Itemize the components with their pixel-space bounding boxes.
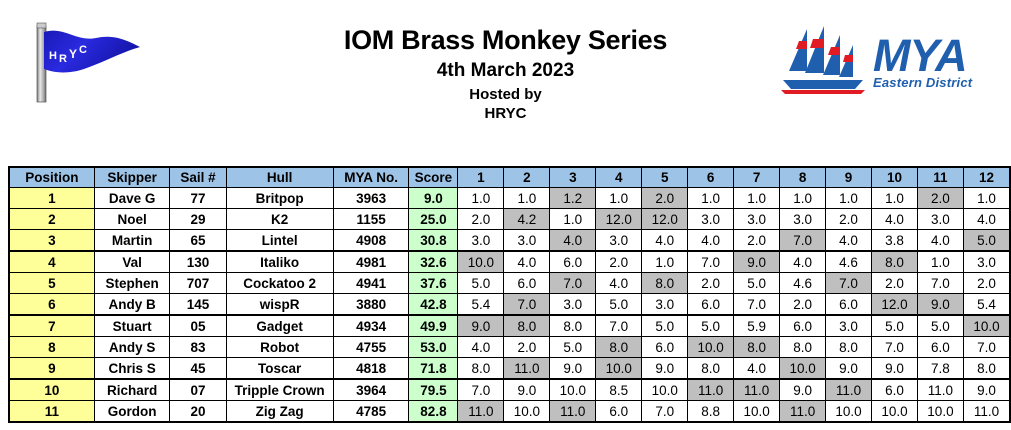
cell-race-7: 8.0 bbox=[734, 337, 780, 358]
cell-score: 79.5 bbox=[409, 379, 458, 401]
cell-race-11: 6.0 bbox=[917, 337, 963, 358]
column-header-race-6: 6 bbox=[688, 167, 734, 188]
cell-race-7: 5.0 bbox=[734, 273, 780, 294]
cell-race-9: 6.0 bbox=[826, 294, 872, 316]
column-header-hull: Hull bbox=[226, 167, 333, 188]
column-header-race-8: 8 bbox=[780, 167, 826, 188]
cell-position: 10 bbox=[9, 379, 94, 401]
cell-race-5: 12.0 bbox=[642, 209, 688, 230]
cell-race-6: 8.0 bbox=[688, 358, 734, 380]
cell-race-8: 9.0 bbox=[780, 379, 826, 401]
cell-sail-number: 45 bbox=[170, 358, 226, 380]
cell-race-3: 5.0 bbox=[550, 337, 596, 358]
cell-race-2: 9.0 bbox=[504, 379, 550, 401]
cell-hull: wispR bbox=[226, 294, 333, 316]
cell-mya-number: 4818 bbox=[333, 358, 409, 380]
cell-hull: Tripple Crown bbox=[226, 379, 333, 401]
cell-race-11: 5.0 bbox=[917, 315, 963, 337]
cell-race-9: 8.0 bbox=[826, 337, 872, 358]
cell-race-2: 11.0 bbox=[504, 358, 550, 380]
cell-position: 4 bbox=[9, 251, 94, 273]
cell-race-5: 6.0 bbox=[642, 337, 688, 358]
cell-race-12: 3.0 bbox=[963, 251, 1010, 273]
table-row: 8Andy S83Robot475553.04.02.05.08.06.010.… bbox=[9, 337, 1010, 358]
cell-hull: Toscar bbox=[226, 358, 333, 380]
cell-race-6: 8.8 bbox=[688, 401, 734, 423]
cell-position: 8 bbox=[9, 337, 94, 358]
cell-position: 5 bbox=[9, 273, 94, 294]
cell-race-12: 2.0 bbox=[963, 273, 1010, 294]
cell-mya-number: 4908 bbox=[333, 230, 409, 252]
mya-wordmark: MYA Eastern District bbox=[873, 34, 972, 89]
column-header-score: Score bbox=[409, 167, 458, 188]
cell-race-12: 7.0 bbox=[963, 337, 1010, 358]
cell-race-9: 2.0 bbox=[826, 209, 872, 230]
column-header-race-2: 2 bbox=[504, 167, 550, 188]
cell-race-5: 2.0 bbox=[642, 188, 688, 209]
cell-race-1: 3.0 bbox=[458, 230, 504, 252]
cell-race-9: 3.0 bbox=[826, 315, 872, 337]
cell-race-1: 5.4 bbox=[458, 294, 504, 316]
table-row: 4Val130Italiko498132.610.04.06.02.01.07.… bbox=[9, 251, 1010, 273]
cell-race-10: 10.0 bbox=[872, 401, 918, 423]
cell-race-5: 4.0 bbox=[642, 230, 688, 252]
cell-race-2: 4.2 bbox=[504, 209, 550, 230]
cell-race-2: 7.0 bbox=[504, 294, 550, 316]
cell-hull: Gadget bbox=[226, 315, 333, 337]
cell-race-8: 8.0 bbox=[780, 337, 826, 358]
cell-race-7: 3.0 bbox=[734, 209, 780, 230]
cell-mya-number: 3880 bbox=[333, 294, 409, 316]
cell-race-2: 8.0 bbox=[504, 315, 550, 337]
cell-race-12: 5.4 bbox=[963, 294, 1010, 316]
column-header-race-5: 5 bbox=[642, 167, 688, 188]
cell-race-11: 1.0 bbox=[917, 251, 963, 273]
cell-mya-number: 4941 bbox=[333, 273, 409, 294]
cell-race-11: 10.0 bbox=[917, 401, 963, 423]
cell-race-7: 5.9 bbox=[734, 315, 780, 337]
cell-race-4: 10.0 bbox=[596, 358, 642, 380]
cell-skipper: Dave G bbox=[94, 188, 170, 209]
cell-race-10: 7.0 bbox=[872, 337, 918, 358]
results-table-container: Position Skipper Sail # Hull MYA No. Sco… bbox=[8, 166, 1011, 423]
cell-score: 30.8 bbox=[409, 230, 458, 252]
cell-race-6: 10.0 bbox=[688, 337, 734, 358]
cell-skipper: Richard bbox=[94, 379, 170, 401]
cell-race-1: 10.0 bbox=[458, 251, 504, 273]
cell-race-9: 7.0 bbox=[826, 273, 872, 294]
cell-score: 71.8 bbox=[409, 358, 458, 380]
table-body: 1Dave G77Britpop39639.01.01.01.21.02.01.… bbox=[9, 188, 1010, 423]
cell-race-8: 3.0 bbox=[780, 209, 826, 230]
cell-race-4: 2.0 bbox=[596, 251, 642, 273]
cell-sail-number: 65 bbox=[170, 230, 226, 252]
cell-race-8: 6.0 bbox=[780, 315, 826, 337]
cell-race-2: 6.0 bbox=[504, 273, 550, 294]
cell-skipper: Stuart bbox=[94, 315, 170, 337]
cell-sail-number: 145 bbox=[170, 294, 226, 316]
cell-race-4: 12.0 bbox=[596, 209, 642, 230]
cell-score: 49.9 bbox=[409, 315, 458, 337]
cell-race-5: 3.0 bbox=[642, 294, 688, 316]
column-header-race-1: 1 bbox=[458, 167, 504, 188]
cell-mya-number: 3964 bbox=[333, 379, 409, 401]
cell-race-9: 11.0 bbox=[826, 379, 872, 401]
cell-race-10: 2.0 bbox=[872, 273, 918, 294]
cell-race-11: 7.0 bbox=[917, 273, 963, 294]
cell-sail-number: 83 bbox=[170, 337, 226, 358]
cell-position: 7 bbox=[9, 315, 94, 337]
svg-text:R: R bbox=[59, 53, 67, 65]
cell-race-8: 7.0 bbox=[780, 230, 826, 252]
table-row: 3Martin65Lintel490830.83.03.04.03.04.04.… bbox=[9, 230, 1010, 252]
cell-race-10: 8.0 bbox=[872, 251, 918, 273]
cell-race-10: 12.0 bbox=[872, 294, 918, 316]
host-club: HRYC bbox=[0, 104, 1011, 123]
cell-race-3: 1.0 bbox=[550, 209, 596, 230]
cell-race-5: 10.0 bbox=[642, 379, 688, 401]
cell-race-3: 9.0 bbox=[550, 358, 596, 380]
page-header: H R Y C IOM Brass Monkey Series 4th Marc… bbox=[0, 0, 1011, 160]
cell-race-12: 1.0 bbox=[963, 188, 1010, 209]
cell-race-1: 8.0 bbox=[458, 358, 504, 380]
cell-sail-number: 05 bbox=[170, 315, 226, 337]
cell-hull: Lintel bbox=[226, 230, 333, 252]
cell-race-3: 1.2 bbox=[550, 188, 596, 209]
cell-mya-number: 4785 bbox=[333, 401, 409, 423]
svg-text:H: H bbox=[49, 50, 57, 62]
cell-race-9: 10.0 bbox=[826, 401, 872, 423]
cell-position: 3 bbox=[9, 230, 94, 252]
cell-race-7: 2.0 bbox=[734, 230, 780, 252]
cell-race-3: 6.0 bbox=[550, 251, 596, 273]
cell-race-9: 4.0 bbox=[826, 230, 872, 252]
cell-race-4: 3.0 bbox=[596, 230, 642, 252]
column-header-mya-no: MYA No. bbox=[333, 167, 409, 188]
column-header-race-9: 9 bbox=[826, 167, 872, 188]
cell-race-4: 1.0 bbox=[596, 188, 642, 209]
cell-race-11: 4.0 bbox=[917, 230, 963, 252]
cell-race-4: 4.0 bbox=[596, 273, 642, 294]
cell-race-8: 1.0 bbox=[780, 188, 826, 209]
cell-race-12: 10.0 bbox=[963, 315, 1010, 337]
column-header-sail: Sail # bbox=[170, 167, 226, 188]
cell-position: 2 bbox=[9, 209, 94, 230]
cell-race-3: 7.0 bbox=[550, 273, 596, 294]
cell-score: 37.6 bbox=[409, 273, 458, 294]
cell-race-1: 11.0 bbox=[458, 401, 504, 423]
cell-race-1: 4.0 bbox=[458, 337, 504, 358]
table-row: 10Richard07Tripple Crown396479.57.09.010… bbox=[9, 379, 1010, 401]
cell-race-11: 7.8 bbox=[917, 358, 963, 380]
results-table: Position Skipper Sail # Hull MYA No. Sco… bbox=[8, 166, 1011, 423]
cell-race-4: 8.5 bbox=[596, 379, 642, 401]
cell-race-7: 9.0 bbox=[734, 251, 780, 273]
cell-sail-number: 130 bbox=[170, 251, 226, 273]
cell-race-4: 8.0 bbox=[596, 337, 642, 358]
cell-hull: Cockatoo 2 bbox=[226, 273, 333, 294]
cell-race-6: 2.0 bbox=[688, 273, 734, 294]
table-row: 11Gordon20Zig Zag478582.811.010.011.06.0… bbox=[9, 401, 1010, 423]
cell-skipper: Andy B bbox=[94, 294, 170, 316]
svg-text:Y: Y bbox=[69, 47, 77, 61]
column-header-race-12: 12 bbox=[963, 167, 1010, 188]
cell-hull: Zig Zag bbox=[226, 401, 333, 423]
cell-race-10: 5.0 bbox=[872, 315, 918, 337]
cell-sail-number: 07 bbox=[170, 379, 226, 401]
header-row: Position Skipper Sail # Hull MYA No. Sco… bbox=[9, 167, 1010, 188]
column-header-skipper: Skipper bbox=[94, 167, 170, 188]
cell-race-3: 4.0 bbox=[550, 230, 596, 252]
cell-race-12: 5.0 bbox=[963, 230, 1010, 252]
cell-race-3: 8.0 bbox=[550, 315, 596, 337]
cell-mya-number: 1155 bbox=[333, 209, 409, 230]
cell-race-8: 10.0 bbox=[780, 358, 826, 380]
mya-subtitle: Eastern District bbox=[873, 76, 972, 89]
column-header-race-11: 11 bbox=[917, 167, 963, 188]
cell-hull: K2 bbox=[226, 209, 333, 230]
cell-skipper: Val bbox=[94, 251, 170, 273]
cell-race-3: 11.0 bbox=[550, 401, 596, 423]
cell-race-4: 6.0 bbox=[596, 401, 642, 423]
mya-logo: MYA Eastern District bbox=[777, 20, 999, 102]
cell-race-5: 7.0 bbox=[642, 401, 688, 423]
cell-position: 1 bbox=[9, 188, 94, 209]
cell-race-5: 8.0 bbox=[642, 273, 688, 294]
column-header-position: Position bbox=[9, 167, 94, 188]
cell-mya-number: 4934 bbox=[333, 315, 409, 337]
table-row: 2Noel29K2115525.02.04.21.012.012.03.03.0… bbox=[9, 209, 1010, 230]
cell-score: 42.8 bbox=[409, 294, 458, 316]
cell-position: 11 bbox=[9, 401, 94, 423]
cell-race-12: 9.0 bbox=[963, 379, 1010, 401]
column-header-race-4: 4 bbox=[596, 167, 642, 188]
cell-race-6: 11.0 bbox=[688, 379, 734, 401]
mya-sailboats-icon bbox=[777, 23, 869, 99]
cell-hull: Italiko bbox=[226, 251, 333, 273]
cell-race-8: 4.6 bbox=[780, 273, 826, 294]
cell-race-8: 2.0 bbox=[780, 294, 826, 316]
cell-skipper: Gordon bbox=[94, 401, 170, 423]
cell-race-12: 11.0 bbox=[963, 401, 1010, 423]
cell-position: 9 bbox=[9, 358, 94, 380]
cell-race-10: 6.0 bbox=[872, 379, 918, 401]
cell-race-8: 4.0 bbox=[780, 251, 826, 273]
cell-race-7: 11.0 bbox=[734, 379, 780, 401]
cell-hull: Britpop bbox=[226, 188, 333, 209]
table-row: 5Stephen707Cockatoo 2494137.65.06.07.04.… bbox=[9, 273, 1010, 294]
cell-mya-number: 3963 bbox=[333, 188, 409, 209]
cell-race-1: 9.0 bbox=[458, 315, 504, 337]
cell-race-10: 1.0 bbox=[872, 188, 918, 209]
cell-score: 82.8 bbox=[409, 401, 458, 423]
cell-race-10: 3.8 bbox=[872, 230, 918, 252]
cell-sail-number: 29 bbox=[170, 209, 226, 230]
cell-race-8: 11.0 bbox=[780, 401, 826, 423]
cell-race-11: 2.0 bbox=[917, 188, 963, 209]
cell-hull: Robot bbox=[226, 337, 333, 358]
cell-race-6: 1.0 bbox=[688, 188, 734, 209]
cell-score: 32.6 bbox=[409, 251, 458, 273]
table-header: Position Skipper Sail # Hull MYA No. Sco… bbox=[9, 167, 1010, 188]
cell-mya-number: 4755 bbox=[333, 337, 409, 358]
cell-race-4: 5.0 bbox=[596, 294, 642, 316]
cell-race-3: 10.0 bbox=[550, 379, 596, 401]
burgee-icon: H R Y C bbox=[18, 12, 148, 132]
cell-race-10: 4.0 bbox=[872, 209, 918, 230]
cell-score: 53.0 bbox=[409, 337, 458, 358]
cell-race-6: 5.0 bbox=[688, 315, 734, 337]
cell-race-12: 8.0 bbox=[963, 358, 1010, 380]
cell-race-2: 2.0 bbox=[504, 337, 550, 358]
cell-skipper: Stephen bbox=[94, 273, 170, 294]
table-row: 1Dave G77Britpop39639.01.01.01.21.02.01.… bbox=[9, 188, 1010, 209]
column-header-race-3: 3 bbox=[550, 167, 596, 188]
table-row: 7Stuart05Gadget493449.99.08.08.07.05.05.… bbox=[9, 315, 1010, 337]
cell-race-7: 7.0 bbox=[734, 294, 780, 316]
cell-race-7: 1.0 bbox=[734, 188, 780, 209]
cell-score: 25.0 bbox=[409, 209, 458, 230]
cell-race-6: 7.0 bbox=[688, 251, 734, 273]
cell-race-6: 6.0 bbox=[688, 294, 734, 316]
cell-score: 9.0 bbox=[409, 188, 458, 209]
cell-race-6: 4.0 bbox=[688, 230, 734, 252]
table-row: 6Andy B145wispR388042.85.47.03.05.03.06.… bbox=[9, 294, 1010, 316]
column-header-race-7: 7 bbox=[734, 167, 780, 188]
cell-race-6: 3.0 bbox=[688, 209, 734, 230]
cell-skipper: Chris S bbox=[94, 358, 170, 380]
cell-race-1: 2.0 bbox=[458, 209, 504, 230]
cell-race-7: 10.0 bbox=[734, 401, 780, 423]
cell-position: 6 bbox=[9, 294, 94, 316]
cell-race-5: 1.0 bbox=[642, 251, 688, 273]
cell-skipper: Andy S bbox=[94, 337, 170, 358]
cell-race-9: 1.0 bbox=[826, 188, 872, 209]
cell-race-11: 11.0 bbox=[917, 379, 963, 401]
cell-race-5: 5.0 bbox=[642, 315, 688, 337]
mya-name: MYA bbox=[873, 34, 972, 78]
cell-mya-number: 4981 bbox=[333, 251, 409, 273]
cell-race-7: 4.0 bbox=[734, 358, 780, 380]
cell-race-2: 3.0 bbox=[504, 230, 550, 252]
cell-race-9: 9.0 bbox=[826, 358, 872, 380]
table-row: 9Chris S45Toscar481871.88.011.09.010.09.… bbox=[9, 358, 1010, 380]
cell-race-4: 7.0 bbox=[596, 315, 642, 337]
cell-race-11: 9.0 bbox=[917, 294, 963, 316]
hryc-burgee-logo: H R Y C bbox=[18, 12, 148, 132]
cell-sail-number: 77 bbox=[170, 188, 226, 209]
cell-race-1: 5.0 bbox=[458, 273, 504, 294]
cell-race-5: 9.0 bbox=[642, 358, 688, 380]
cell-race-1: 7.0 bbox=[458, 379, 504, 401]
cell-race-2: 1.0 bbox=[504, 188, 550, 209]
column-header-race-10: 10 bbox=[872, 167, 918, 188]
cell-skipper: Martin bbox=[94, 230, 170, 252]
cell-race-10: 9.0 bbox=[872, 358, 918, 380]
cell-race-12: 4.0 bbox=[963, 209, 1010, 230]
cell-race-3: 3.0 bbox=[550, 294, 596, 316]
cell-race-1: 1.0 bbox=[458, 188, 504, 209]
cell-race-11: 3.0 bbox=[917, 209, 963, 230]
cell-sail-number: 20 bbox=[170, 401, 226, 423]
cell-skipper: Noel bbox=[94, 209, 170, 230]
svg-text:C: C bbox=[79, 44, 87, 56]
cell-race-2: 10.0 bbox=[504, 401, 550, 423]
cell-race-9: 4.6 bbox=[826, 251, 872, 273]
cell-sail-number: 707 bbox=[170, 273, 226, 294]
cell-race-2: 4.0 bbox=[504, 251, 550, 273]
